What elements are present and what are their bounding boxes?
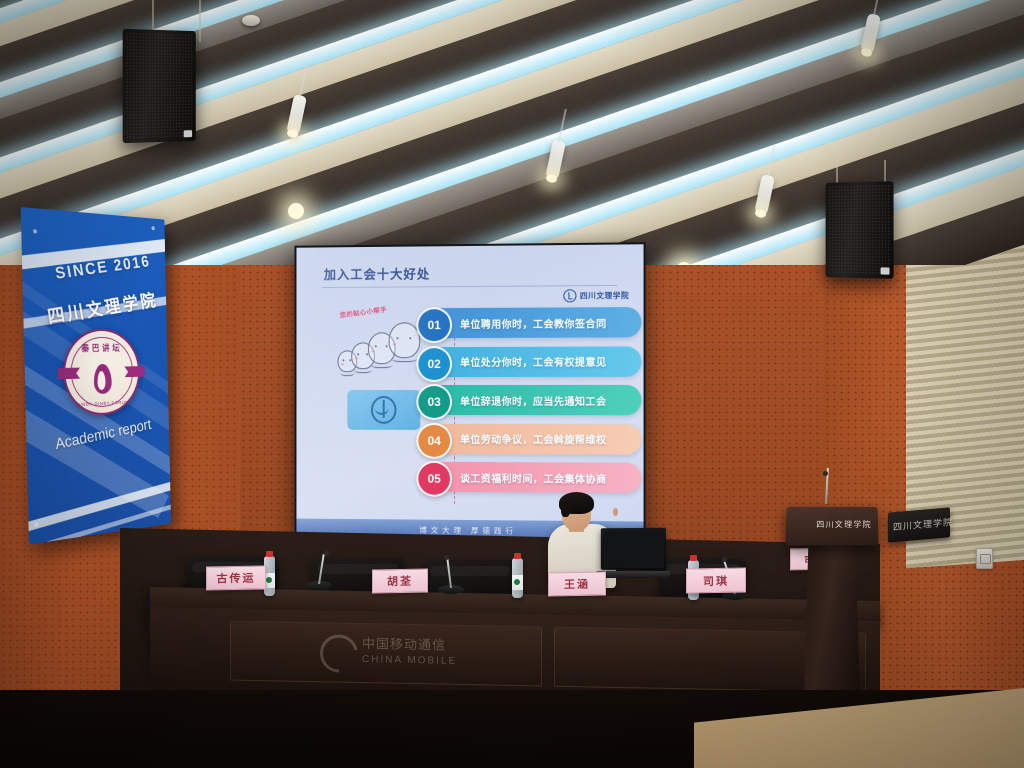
ceiling-speaker-right — [826, 181, 894, 279]
nameplate: 王涵 — [548, 571, 606, 596]
podium-microphone[interactable] — [822, 470, 832, 510]
sponsor-name-cn: 中国移动通信 — [362, 633, 457, 654]
speaker-wire — [836, 156, 838, 184]
seal-text-cn: 秦巴讲坛 — [65, 342, 138, 355]
forum-seal-icon: 秦巴讲坛 QINBA QINBA FORUM — [62, 329, 140, 417]
event-banner: SINCE 2016 四川文理学院 秦巴讲坛 QINBA QINBA FORUM… — [21, 207, 171, 544]
lectern-label: 四川文理学院 — [816, 519, 872, 530]
banner-university-name: 四川文理学院 — [43, 286, 161, 330]
nameplate: 胡荃 — [372, 569, 428, 594]
wall-outlet[interactable] — [976, 548, 993, 569]
laptop — [596, 528, 668, 578]
sponsor-logo: 中国移动通信 CHINA MOBILE — [362, 633, 457, 667]
nameplate-text: 王涵 — [564, 576, 590, 592]
wall-sign-text: 四川文理学院 — [893, 515, 953, 533]
desk-microphone[interactable] — [306, 548, 334, 590]
ceiling-speaker-left — [123, 29, 196, 143]
ceiling-downlight — [288, 203, 304, 219]
nameplate-text: 古传运 — [217, 570, 256, 587]
nameplate: 古传运 — [206, 565, 266, 590]
lectern: 四川文理学院 — [786, 506, 878, 702]
desk-microphone[interactable] — [438, 552, 466, 594]
sponsor-name-en: CHINA MOBILE — [362, 654, 457, 667]
water-bottle — [512, 558, 523, 598]
lecture-hall-photo: SINCE 2016 四川文理学院 秦巴讲坛 QINBA QINBA FORUM… — [0, 0, 1024, 768]
nameplate: 司琪 — [686, 567, 746, 593]
nameplate-text: 司琪 — [703, 572, 729, 588]
speaker-wire — [199, 0, 201, 42]
smoke-detector-icon — [242, 15, 260, 26]
wall-sign: 四川文理学院 — [888, 507, 950, 542]
nameplate-text: 胡荃 — [387, 573, 413, 589]
